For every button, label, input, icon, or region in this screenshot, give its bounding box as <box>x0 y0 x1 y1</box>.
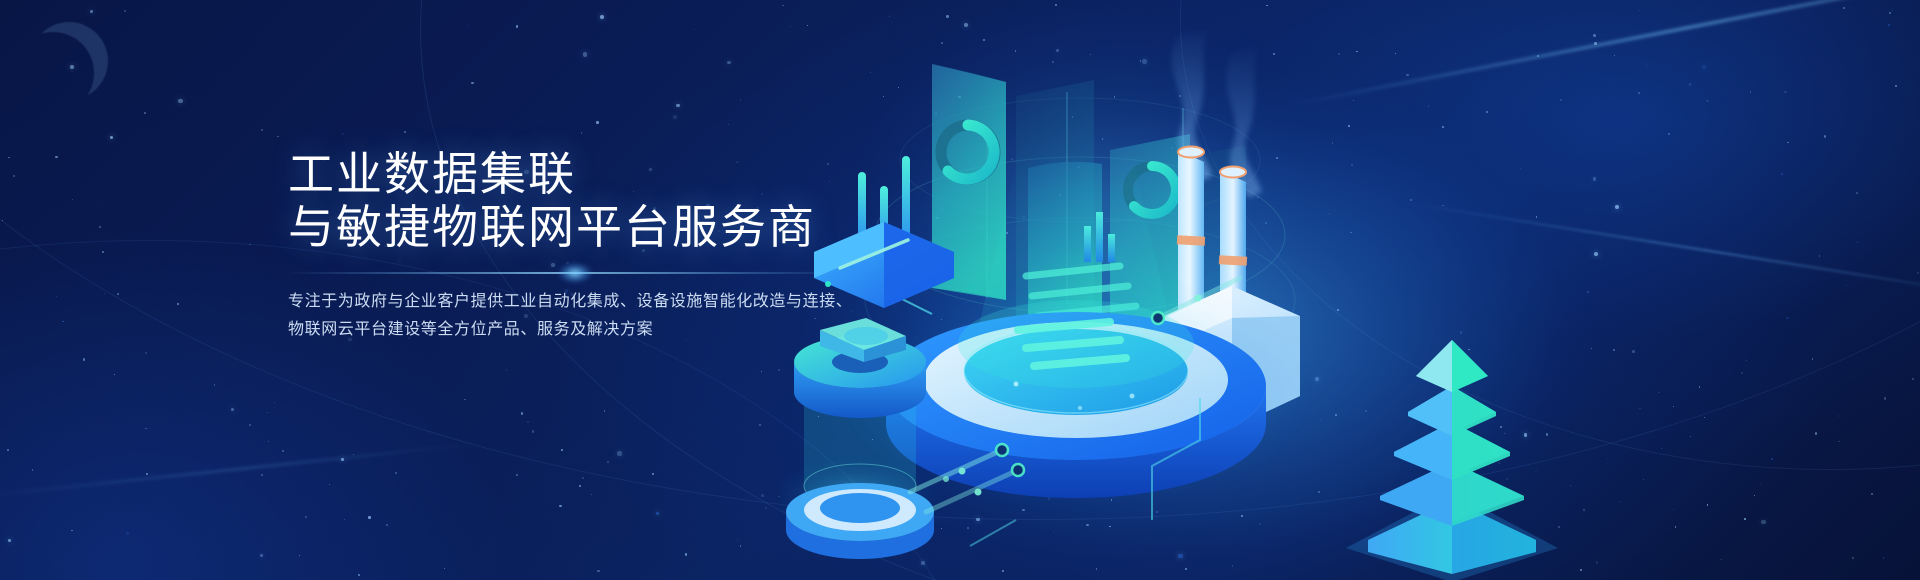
star-dot <box>368 516 371 519</box>
star-dot <box>114 374 115 375</box>
star-dot <box>101 205 102 206</box>
star-dot <box>464 399 466 401</box>
star-dot <box>177 303 180 306</box>
star-dot <box>386 524 388 526</box>
star-dot <box>71 530 73 532</box>
star-dot <box>604 410 606 412</box>
star-dot <box>282 450 284 452</box>
star-dot <box>673 115 677 119</box>
star-dot <box>676 104 680 108</box>
star-dot <box>231 408 234 411</box>
star-dot <box>124 10 126 12</box>
star-dot <box>260 554 263 557</box>
star-dot <box>527 421 529 423</box>
star-dot <box>261 474 263 476</box>
star-dot <box>214 384 216 386</box>
star-dot <box>685 553 687 555</box>
star-dot <box>591 494 592 495</box>
star-dot <box>249 244 250 245</box>
star-dot <box>468 25 470 27</box>
star-dot <box>506 369 507 370</box>
star-dot <box>99 226 101 228</box>
star-dot <box>344 519 345 520</box>
star-dot <box>596 121 599 124</box>
star-dot <box>761 371 762 372</box>
star-dot <box>521 412 524 415</box>
star-dot <box>8 539 11 542</box>
star-dot <box>277 136 279 138</box>
star-dot <box>561 449 563 451</box>
star-dot <box>471 82 474 85</box>
star-dot <box>13 175 15 177</box>
star-dot <box>582 477 585 480</box>
star-dot <box>635 361 636 362</box>
star-dot <box>358 574 360 576</box>
star-dot <box>532 430 535 433</box>
star-dot <box>727 61 731 65</box>
star-dot <box>267 412 268 413</box>
crescent-moon-icon <box>30 22 108 100</box>
star-dot <box>274 402 275 403</box>
star-dot <box>110 136 113 139</box>
star-dot <box>62 321 64 323</box>
star-dot <box>404 131 406 133</box>
star-dot <box>261 129 263 131</box>
star-dot <box>305 516 307 518</box>
star-dot <box>583 52 587 56</box>
star-dot <box>32 469 34 471</box>
star-dot <box>341 458 344 461</box>
star-dot <box>8 157 9 158</box>
star-dot <box>7 449 9 451</box>
industrial-iot-illustration <box>780 0 1920 580</box>
star-dot <box>516 474 518 476</box>
star-dot <box>728 124 729 125</box>
star-dot <box>56 296 58 298</box>
star-dot <box>579 485 581 487</box>
star-dot <box>652 473 654 475</box>
star-dot <box>600 15 604 19</box>
star-dot <box>516 25 519 28</box>
star-dot <box>617 451 622 456</box>
star-dot <box>55 156 58 159</box>
star-dot <box>597 570 600 573</box>
star-dot <box>90 10 93 13</box>
star-dot <box>70 65 74 69</box>
decor-light-beam <box>0 443 479 499</box>
star-dot <box>146 473 148 475</box>
star-dot <box>607 461 609 463</box>
star-dot <box>126 532 128 534</box>
star-dot <box>144 112 146 114</box>
star-dot <box>329 484 330 485</box>
star-dot <box>581 132 582 133</box>
headline-divider <box>288 272 848 274</box>
star-dot <box>765 507 767 509</box>
star-dot <box>740 99 742 101</box>
star-dot <box>353 454 354 455</box>
star-dot <box>117 293 119 295</box>
star-dot <box>740 545 742 547</box>
star-dot <box>761 494 764 497</box>
star-dot <box>395 472 397 474</box>
star-dot <box>759 424 762 427</box>
star-dot <box>268 441 269 442</box>
star-dot <box>145 352 147 354</box>
star-dot <box>145 428 147 430</box>
star-dot <box>178 99 182 103</box>
star-dot <box>2 220 3 221</box>
star-dot <box>249 424 251 426</box>
star-dot <box>737 539 738 540</box>
star-dot <box>444 568 446 570</box>
star-dot <box>656 512 659 515</box>
star-dot <box>559 505 561 507</box>
star-dot <box>299 555 301 557</box>
star-dot <box>83 358 86 361</box>
star-dot <box>342 133 344 135</box>
star-dot <box>102 251 104 253</box>
star-dot <box>72 199 74 201</box>
hero-banner: 工业数据集联 与敏捷物联网平台服务商 专注于为政府与企业客户提供工业自动化集成、… <box>0 0 1920 580</box>
star-dot <box>694 29 696 31</box>
star-dot <box>104 293 106 295</box>
star-dot <box>222 77 223 78</box>
